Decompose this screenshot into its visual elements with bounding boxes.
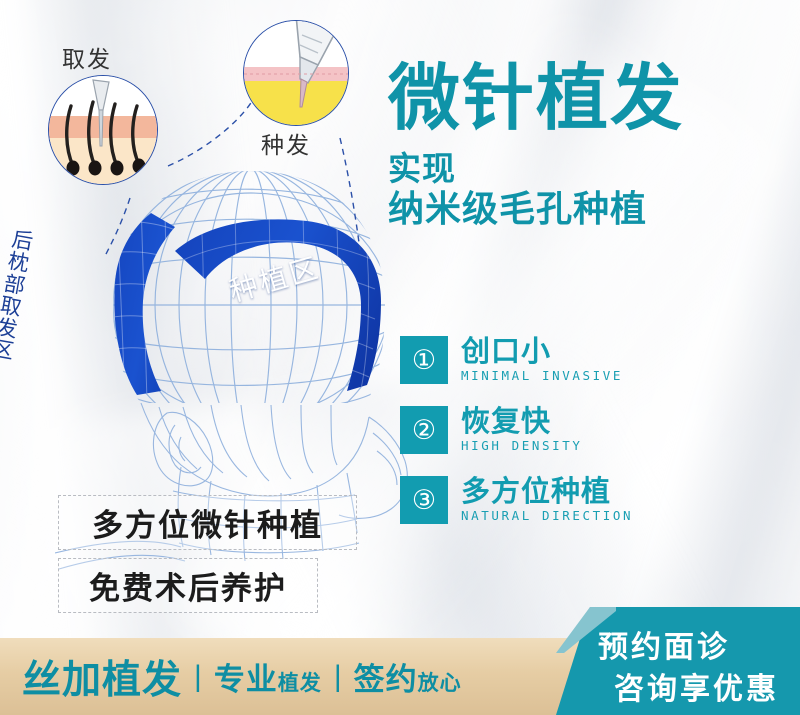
brand-separator: | — [194, 662, 202, 692]
cta-line-2[interactable]: 咨询享优惠 — [614, 664, 779, 708]
feature-list: ① 创口小 MINIMAL INVASIVE ② 恢复快 HIGH DENSIT… — [400, 336, 633, 546]
brand-slogan-2-sub: 放心 — [418, 667, 462, 697]
brand-slogan-1-main: 专业 — [214, 654, 278, 699]
feature-item: ② 恢复快 HIGH DENSITY — [400, 406, 633, 454]
feature-number-badge: ③ — [400, 476, 448, 524]
feature-number-badge: ① — [400, 336, 448, 384]
extraction-label: 取发 — [62, 40, 112, 74]
feature-title: 创口小 — [461, 336, 623, 366]
feature-item: ① 创口小 MINIMAL INVASIVE — [400, 336, 633, 384]
headline-block: 微针植发 实现 纳米级毛孔种植 — [388, 62, 684, 231]
headline-subtitle-1: 实现 — [388, 150, 684, 189]
cta-line-1[interactable]: 预约面诊 — [598, 622, 730, 666]
poster-canvas: 取发 种发 后枕部取发区 种植区 微针植发 实现 纳米级毛孔种植 ① — [0, 0, 800, 715]
tag-free-aftercare: 免费术后养护 — [58, 558, 318, 613]
implantation-illustration-circle — [243, 20, 349, 126]
feature-subtitle: MINIMAL INVASIVE — [461, 368, 623, 383]
tag-multi-direction: 多方位微针种植 — [58, 495, 357, 550]
feature-item: ③ 多方位种植 NATURAL DIRECTION — [400, 476, 633, 524]
extraction-illustration-circle — [48, 75, 158, 185]
feature-subtitle: NATURAL DIRECTION — [461, 508, 633, 523]
page-title: 微针植发 — [388, 62, 684, 134]
brand-logo: 丝加植发 — [22, 649, 182, 705]
feature-subtitle: HIGH DENSITY — [461, 438, 583, 453]
brand-slogan-2: 签约 放心 — [354, 654, 462, 699]
feature-title: 恢复快 — [461, 406, 583, 436]
brand-separator: | — [334, 662, 342, 692]
brand-row: 丝加植发 | 专业 植发 | 签约 放心 — [0, 638, 610, 715]
brand-slogan-1-sub: 植发 — [278, 667, 322, 697]
brand-slogan-2-main: 签约 — [354, 654, 418, 699]
feature-number-badge: ② — [400, 406, 448, 454]
feature-title: 多方位种植 — [461, 476, 633, 506]
headline-subtitle-2: 纳米级毛孔种植 — [388, 189, 684, 231]
implantation-label: 种发 — [261, 126, 311, 160]
brand-slogan-1: 专业 植发 — [214, 654, 322, 699]
